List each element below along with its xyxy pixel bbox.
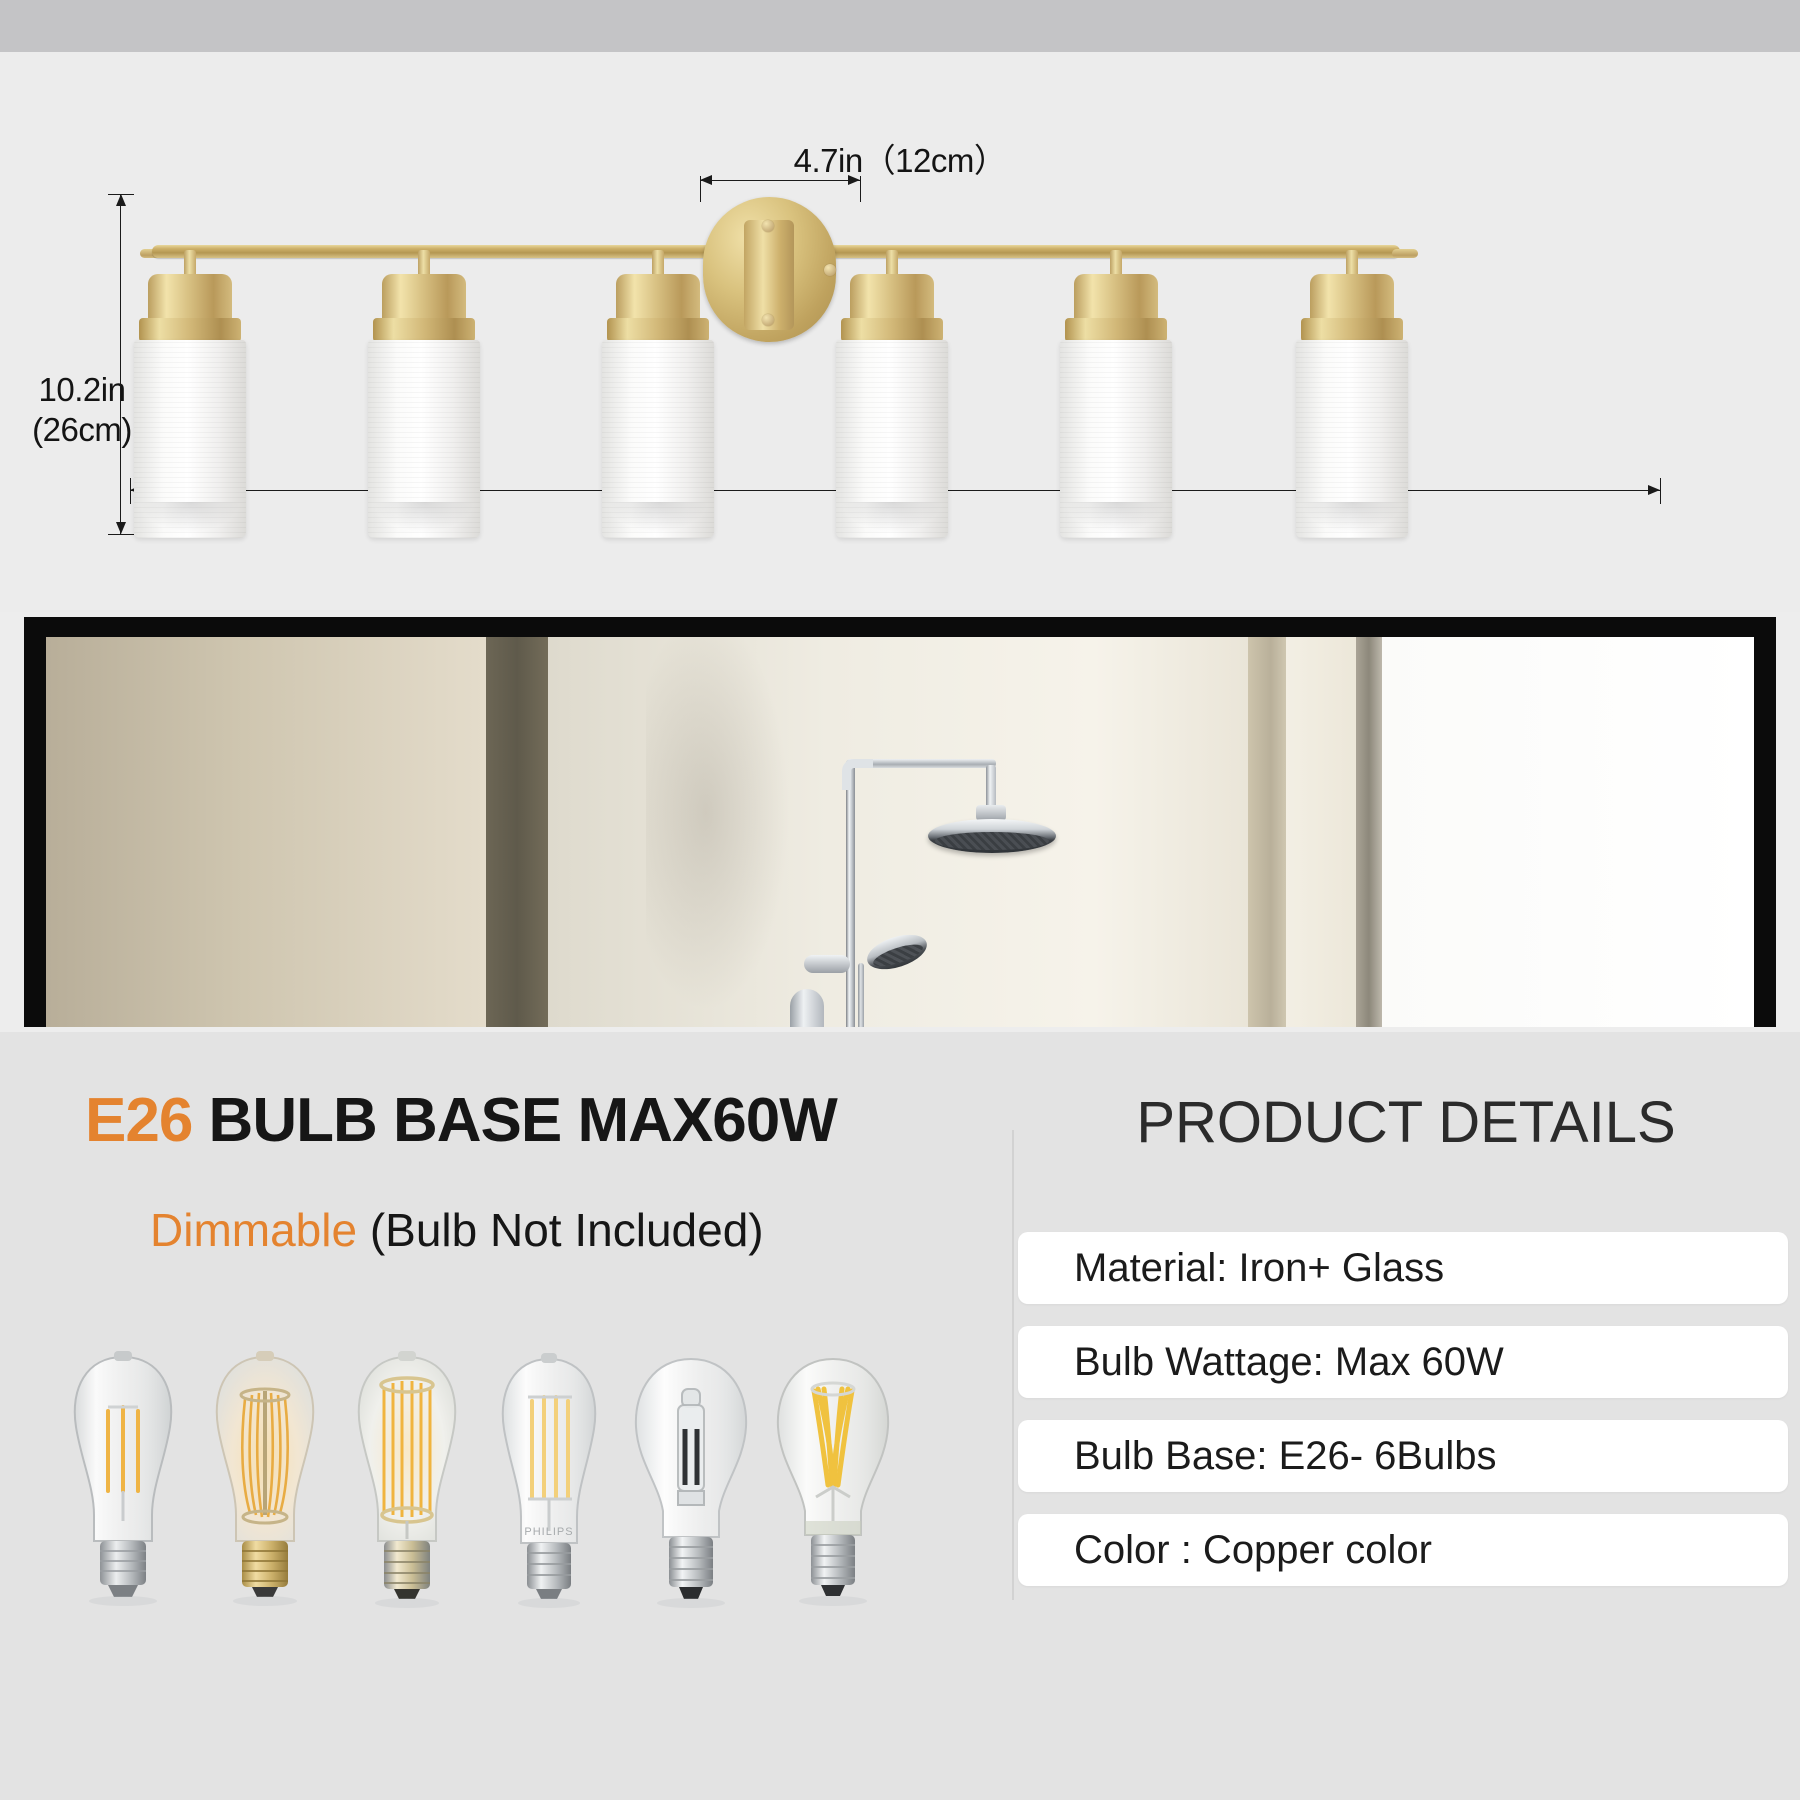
lamp-shade-2 xyxy=(368,340,480,538)
bulb-st64-squirrel-cage xyxy=(332,1345,482,1650)
bulb-a19-halogen-icon xyxy=(616,1345,766,1645)
lifestyle-photo-section xyxy=(0,612,1800,1032)
bulb-st64-squirrel-cage-icon xyxy=(332,1345,482,1645)
shower-arm-curve xyxy=(842,759,873,790)
wall-panel-left xyxy=(46,637,486,1027)
top-gray-band xyxy=(0,0,1800,52)
svg-text:PHILIPS: PHILIPS xyxy=(524,1526,573,1538)
wall-panel-far-right xyxy=(1382,637,1754,1027)
headline-accent-text: E26 xyxy=(85,1086,192,1155)
lamp-collar-1 xyxy=(139,318,241,342)
detail-row-material: Material: Iron+ Glass xyxy=(1018,1232,1788,1304)
bulb-compatibility-row: PHILIPS xyxy=(20,1330,970,1650)
wall-soft-shadow xyxy=(646,637,796,1027)
wall-edge-1 xyxy=(1248,637,1286,1027)
lamp-collar-2 xyxy=(373,318,475,342)
wall-edge-2 xyxy=(1356,637,1382,1027)
bulb-base-headline: E26 BULB BASE MAX60W xyxy=(85,1086,837,1156)
photo-inner xyxy=(46,637,1754,1027)
bulb-a19-led-filament xyxy=(758,1345,908,1650)
lamp-shade-1 xyxy=(134,340,246,538)
fixture-bar-tip-right xyxy=(1392,249,1418,258)
lamp-cap-5 xyxy=(1074,274,1158,324)
bulb-a19-led-filament-icon xyxy=(758,1345,908,1645)
lamp-cap-1 xyxy=(148,274,232,324)
shower-riser xyxy=(846,763,855,1027)
detail-row-wattage: Bulb Wattage: Max 60W xyxy=(1018,1326,1788,1398)
mount-screw-top xyxy=(762,220,774,232)
lamp-collar-3 xyxy=(607,318,709,342)
lamp-cap-3 xyxy=(616,274,700,324)
bulb-st64-vintage-cage xyxy=(190,1345,340,1650)
detail-label-bulb-base: Bulb Base: E26- 6Bulbs xyxy=(1018,1434,1496,1479)
lamp-cap-4 xyxy=(850,274,934,324)
lamp-collar-4 xyxy=(841,318,943,342)
product-details-title: PRODUCT DETAILS xyxy=(1012,1090,1800,1156)
shower-handle xyxy=(804,955,850,973)
lamp-cap-2 xyxy=(382,274,466,324)
bulb-philips-st19-led: PHILIPS xyxy=(474,1345,624,1650)
vertical-divider xyxy=(1012,1130,1014,1600)
bathroom-shower-lifestyle-photo xyxy=(24,617,1776,1027)
dimension-diagram-section: 4.7in（12cm） 10.2in (26cm) 38.6in（98cm） xyxy=(0,52,1800,612)
lamp-collar-6 xyxy=(1301,318,1403,342)
lamp-shade-4 xyxy=(836,340,948,538)
lamp-shade-5 xyxy=(1060,340,1172,538)
bulb-philips-st19-led-icon: PHILIPS xyxy=(474,1345,624,1645)
wall-panel-right xyxy=(1286,637,1356,1027)
lamp-collar-5 xyxy=(1065,318,1167,342)
product-infographic-page: 4.7in（12cm） 10.2in (26cm) 38.6in（98cm） xyxy=(0,0,1800,1800)
bulb-st64-led-filament-icon xyxy=(48,1345,198,1645)
detail-label-color: Color : Copper color xyxy=(1018,1528,1432,1573)
product-details-list: Material: Iron+ Glass Bulb Wattage: Max … xyxy=(1018,1232,1788,1608)
lamp-shade-6 xyxy=(1296,340,1408,538)
shower-valve xyxy=(790,989,824,1027)
detail-row-color: Color : Copper color xyxy=(1018,1514,1788,1586)
vanity-light-fixture xyxy=(0,52,1800,612)
shower-hose xyxy=(858,963,864,1027)
subline-rest-text: (Bulb Not Included) xyxy=(357,1204,764,1256)
mount-screw-bottom xyxy=(762,314,774,326)
detail-label-wattage: Bulb Wattage: Max 60W xyxy=(1018,1340,1504,1385)
rain-shower-head xyxy=(928,819,1056,853)
bulb-a19-halogen xyxy=(616,1345,766,1650)
detail-row-bulb-base: Bulb Base: E26- 6Bulbs xyxy=(1018,1420,1788,1492)
lamp-cap-6 xyxy=(1310,274,1394,324)
dimmable-subline: Dimmable (Bulb Not Included) xyxy=(150,1203,764,1257)
bulb-st64-led-filament xyxy=(48,1345,198,1650)
subline-accent-text: Dimmable xyxy=(150,1204,357,1256)
bulb-st64-vintage-cage-icon xyxy=(190,1345,340,1645)
headline-rest-text: BULB BASE MAX60W xyxy=(192,1086,836,1155)
mount-screw-right xyxy=(824,264,836,276)
dark-column xyxy=(486,637,548,1027)
detail-label-material: Material: Iron+ Glass xyxy=(1018,1246,1444,1291)
lamp-shade-3 xyxy=(602,340,714,538)
